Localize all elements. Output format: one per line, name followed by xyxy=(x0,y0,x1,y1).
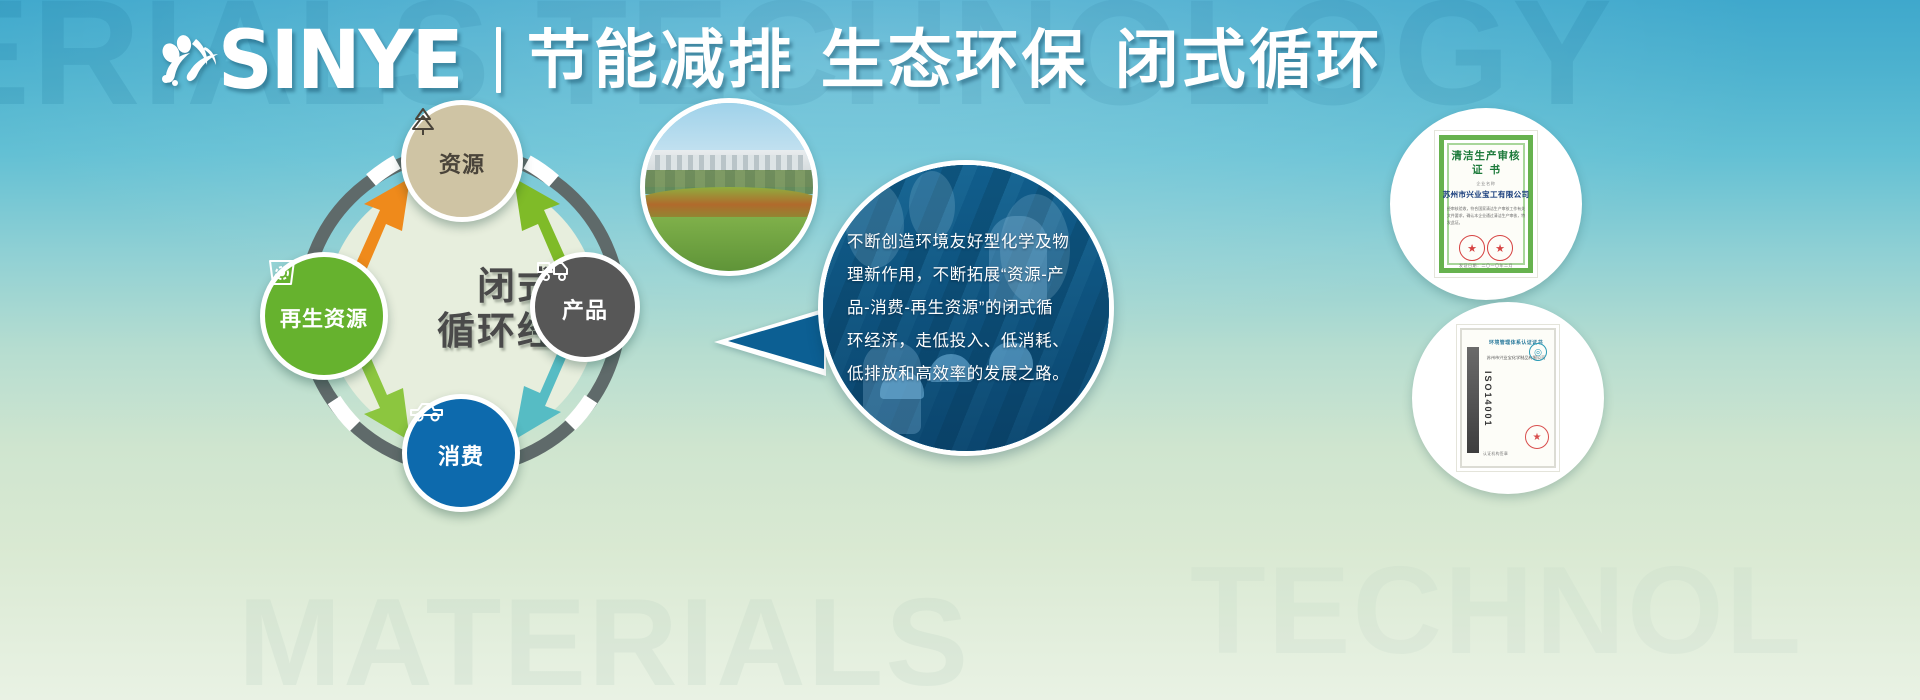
certificate-date: 发证日期：二〇一〇年二月 xyxy=(1435,263,1537,269)
callout-line-1: 不断创造环境友好型化学及物 xyxy=(847,226,1085,259)
callout-bubble: 不断创造环境友好型化学及物 理新作用，不断拓展“资源-产 品-消费-再生资源”的… xyxy=(818,160,1114,456)
red-seal-icon xyxy=(1487,235,1513,261)
page-title: 节能减排生态环保闭式循环 xyxy=(527,28,1383,92)
header-divider xyxy=(496,27,501,93)
red-seal-icon xyxy=(1525,425,1549,449)
certificate-spine-bar xyxy=(1467,347,1479,453)
callout-line-2: 理新作用，不断拓展“资源-产 xyxy=(847,259,1085,292)
cycle-node-consume[interactable]: 消费 xyxy=(402,394,520,512)
headline-part-2: 生态环保 xyxy=(821,24,1089,96)
certificate-sub-label: 企业名称 xyxy=(1435,181,1537,187)
cycle-node-consume-label: 消费 xyxy=(438,446,484,468)
closed-loop-cycle-diagram: 闭式 循环经济 资源 产品 xyxy=(252,100,672,520)
certificate-title-line2: 证书 xyxy=(1435,162,1537,177)
certificate-body: 经审核验收，符合国家清洁生产审核工作有关文件要求，确认本企业通过清洁生产审核，特… xyxy=(1447,205,1525,227)
headline-part-1: 节能减排 xyxy=(527,24,795,96)
callout-line-4: 环经济，走低投入、低消耗、 xyxy=(847,325,1085,358)
certificate-signature: 认证机构签章 xyxy=(1483,452,1508,457)
cycle-node-recycle-label: 再生资源 xyxy=(280,309,368,330)
banner-stage: ERIALS TECHNOLOGY MATERIALS TECHNOL SINY… xyxy=(0,0,1920,700)
watermark-bottom-secondary: TECHNOL xyxy=(1190,540,1803,682)
cycle-node-recycle[interactable]: 再生资源 xyxy=(260,252,388,380)
certificate-title-line1: 清洁生产审核 xyxy=(1435,148,1537,163)
cycle-node-product-label: 产品 xyxy=(562,300,608,322)
callout-tail-inner xyxy=(728,313,824,369)
red-seal-icon xyxy=(1459,235,1485,261)
certification-body-logo-icon: ◎ xyxy=(1529,343,1547,361)
watermark-bottom: MATERIALS xyxy=(238,572,970,700)
certificate-clean-production[interactable]: 清洁生产审核 证书 企业名称 苏州市兴业宝工有限公司 经审核验收，符合国家清洁生… xyxy=(1390,108,1582,300)
cycle-node-resource-label: 资源 xyxy=(439,154,485,176)
callout-text: 不断创造环境友好型化学及物 理新作用，不断拓展“资源-产 品-消费-再生资源”的… xyxy=(823,165,1109,451)
callout-line-5: 低排放和高效率的发展之路。 xyxy=(847,358,1085,391)
statement-callout: 不断创造环境友好型化学及物 理新作用，不断拓展“资源-产 品-消费-再生资源”的… xyxy=(700,160,1120,550)
certificate-paper: 清洁生产审核 证书 企业名称 苏州市兴业宝工有限公司 经审核验收，符合国家清洁生… xyxy=(1434,130,1538,278)
certificate-company: 苏州市兴业宝工有限公司 xyxy=(1435,189,1537,200)
callout-line-3: 品-消费-再生资源”的闭式循 xyxy=(847,292,1085,325)
logo-wordmark: SINYE xyxy=(218,19,462,100)
cycle-node-resource[interactable]: 资源 xyxy=(401,100,523,222)
certificate-standard: ISO14001 xyxy=(1483,371,1493,428)
certificate-paper: 环境管理体系认证证书 苏州市兴业宝化学制品有限公司 ◎ ISO14001 认证机… xyxy=(1456,324,1560,472)
certificate-iso14001[interactable]: 环境管理体系认证证书 苏州市兴业宝化学制品有限公司 ◎ ISO14001 认证机… xyxy=(1412,302,1604,494)
headline-part-3: 闭式循环 xyxy=(1115,24,1383,96)
banner-header: SINYE 节能减排生态环保闭式循环 xyxy=(160,14,1383,106)
certificate-seals xyxy=(1435,235,1537,261)
cycle-node-product[interactable]: 产品 xyxy=(530,252,640,362)
leaf-splash-icon xyxy=(160,31,224,93)
